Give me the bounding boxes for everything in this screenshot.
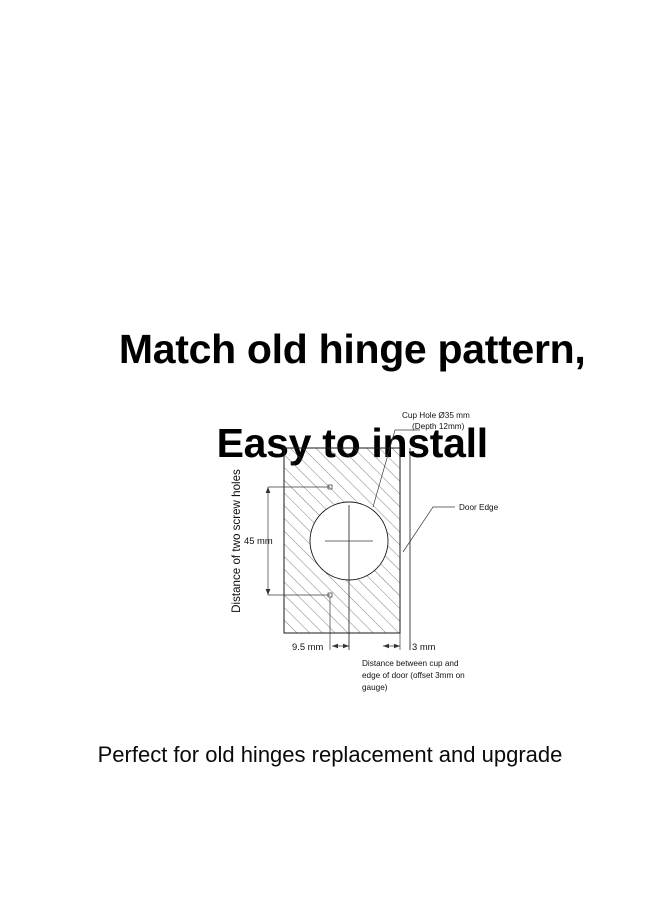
cup-edge-note-line-3: gauge)	[362, 683, 388, 692]
dimension-45mm-label: 45 mm	[244, 535, 273, 546]
door-edge-leader	[403, 507, 455, 552]
hinge-boring-diagram: Cup Hole Ø35 mm (Depth 12mm) Door Edge	[0, 400, 660, 720]
dimension-3mm-label: 3 mm	[412, 641, 436, 652]
cup-hole-label-line-1: Cup Hole Ø35 mm	[402, 411, 470, 420]
door-edge-label: Door Edge	[459, 503, 499, 512]
page-title-line-1: Match old hinge pattern,	[119, 326, 586, 372]
screw-hole-distance-label: Distance of two screw holes	[230, 469, 243, 613]
page-canvas: Match old hinge pattern, Easy to install	[0, 0, 660, 900]
dimension-3mm	[383, 633, 410, 650]
page-caption: Perfect for old hinges replacement and u…	[0, 742, 660, 768]
cup-edge-note-line-2: edge of door (offset 3mm on	[362, 671, 465, 680]
dimension-9-5mm-label: 9.5 mm	[292, 641, 323, 652]
cup-hole-label-line-2: (Depth 12mm)	[412, 422, 465, 431]
cup-edge-note-line-1: Distance between cup and	[362, 659, 459, 668]
